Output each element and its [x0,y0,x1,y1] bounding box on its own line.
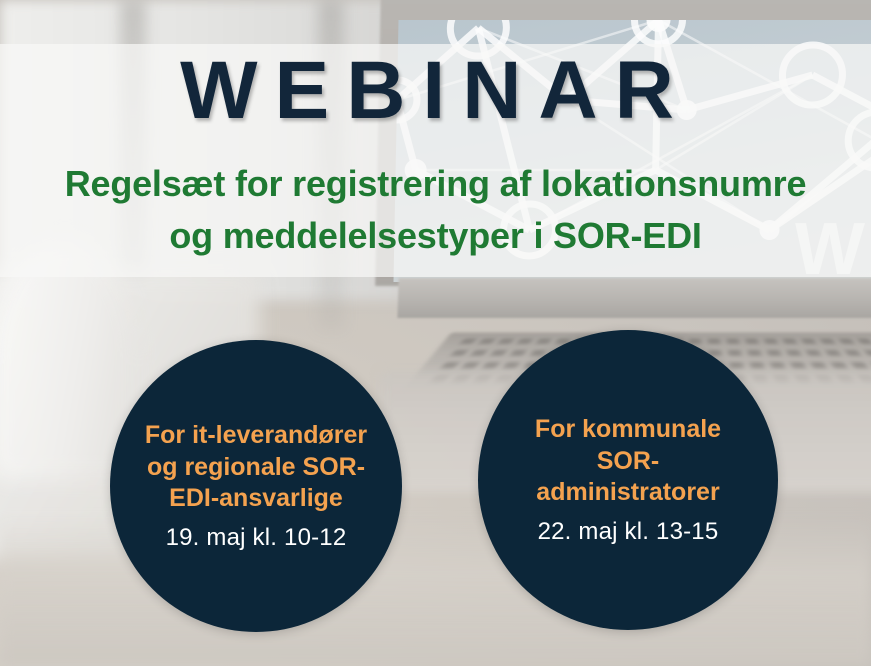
audience-bubble-right: For kommunale SOR- administratorer 22. m… [478,330,778,630]
subtitle: Regelsæt for registrering af lokationsnu… [0,158,871,262]
subtitle-line-1: Regelsæt for registrering af lokationsnu… [65,163,807,204]
bubble-left-heading-line-2: og regionale SOR- [147,453,365,481]
bubble-left-heading: For it-leverandører og regionale SOR- ED… [119,420,393,515]
bubble-right-date: 22. maj kl. 13-15 [538,518,719,546]
subtitle-line-2: og meddelelsestyper i SOR-EDI [0,210,871,262]
audience-bubble-left: For it-leverandører og regionale SOR- ED… [110,340,402,632]
bubble-right-heading-line-2: administratorer [536,478,719,506]
bubble-right-heading: For kommunale SOR- administratorer [478,414,778,509]
bubble-right-heading-line-1: For kommunale SOR- [535,415,721,475]
bubble-left-heading-line-1: For it-leverandører [145,421,367,449]
webinar-banner: WEBINAR WEBINAR Regelsæt for registrerin… [0,0,871,666]
bubble-left-heading-line-3: EDI-ansvarlige [169,484,343,512]
page-title: WEBINAR [0,50,871,132]
bubble-left-date: 19. maj kl. 10-12 [166,524,347,552]
laptop-hinge [397,278,871,318]
